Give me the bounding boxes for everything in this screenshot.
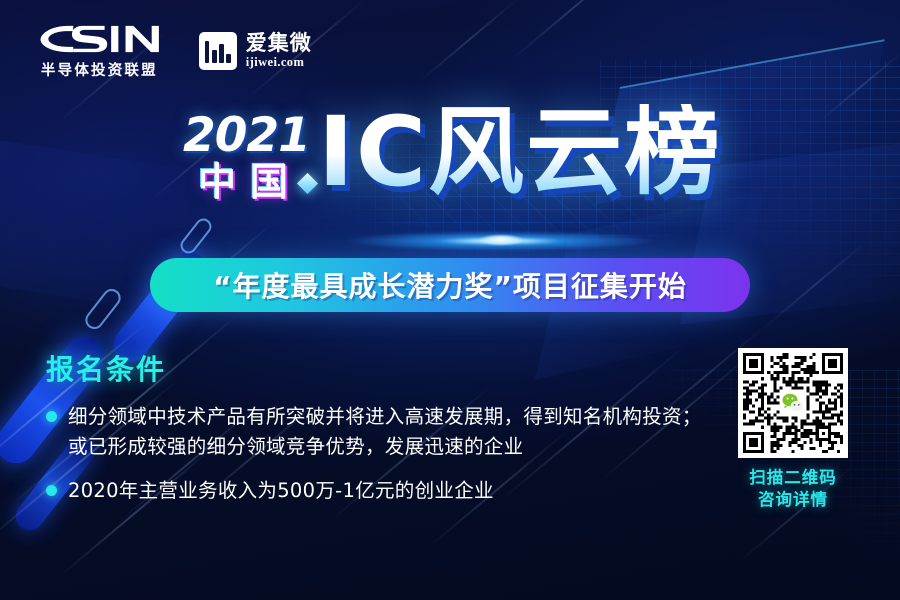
csia-subtitle: 半导体投资联盟 <box>41 59 158 80</box>
list-item: 细分领域中技术产品有所突破并将进入高速发展期，得到知名机构投资；或已形成较强的细… <box>46 402 706 462</box>
bullet-dot-icon <box>46 485 57 496</box>
ijiwei-name-cn: 爱集微 <box>246 32 312 54</box>
csia-wordmark-icon <box>34 22 165 56</box>
condition-text: 细分领域中技术产品有所突破并将进入高速发展期，得到知名机构投资；或已形成较强的细… <box>68 402 706 462</box>
title-year-block: 2021 中 国 <box>183 114 303 201</box>
qr-section: 扫描二维码 咨询详情 <box>733 348 853 512</box>
title-year: 2021 <box>183 114 303 159</box>
title-main-text: IC风云榜 <box>318 104 722 200</box>
cylinder-ring <box>82 285 125 332</box>
title-country-char-2: 国 <box>250 163 288 201</box>
promo-banner: 半导体投资联盟 爱集微 ijiwei.com 2021 中 国 IC风云榜 <box>0 0 900 600</box>
ijiwei-domain: ijiwei.com <box>246 55 312 70</box>
qr-caption-line-2: 咨询详情 <box>733 489 853 511</box>
wechat-glyph <box>781 391 805 415</box>
logo-bar: 半导体投资联盟 爱集微 ijiwei.com <box>34 22 312 80</box>
ijiwei-text: 爱集微 ijiwei.com <box>246 32 312 69</box>
ijiwei-bars-icon <box>199 32 237 70</box>
conditions-heading: 报名条件 <box>46 348 706 388</box>
title-country-char-1: 中 <box>198 163 236 201</box>
main-title: 2021 中 国 IC风云榜 <box>0 104 900 234</box>
wechat-icon <box>780 390 806 416</box>
conditions-list: 细分领域中技术产品有所突破并将进入高速发展期，得到知名机构投资；或已形成较强的细… <box>46 402 706 507</box>
title-country: 中 国 <box>183 163 303 201</box>
light-streak <box>759 240 868 332</box>
condition-text: 2020年主营业务收入为500万-1亿元的创业企业 <box>68 476 494 506</box>
list-item: 2020年主营业务收入为500万-1亿元的创业企业 <box>46 476 706 506</box>
conditions-section: 报名条件 细分领域中技术产品有所突破并将进入高速发展期，得到知名机构投资；或已形… <box>46 348 706 521</box>
qr-caption: 扫描二维码 咨询详情 <box>733 467 853 512</box>
bullet-dot-icon <box>46 411 57 422</box>
qr-code[interactable] <box>738 348 848 458</box>
qr-caption-line-1: 扫描二维码 <box>733 467 853 489</box>
lens-flare-core <box>470 232 532 248</box>
light-streak <box>419 0 520 82</box>
announcement-text: “年度最具成长潜力奖”项目征集开始 <box>213 265 687 305</box>
logo-csia: 半导体投资联盟 <box>34 22 165 80</box>
logo-ijiwei[interactable]: 爱集微 ijiwei.com <box>199 32 312 70</box>
announcement-pill[interactable]: “年度最具成长潜力奖”项目征集开始 <box>150 258 750 312</box>
light-streak <box>509 0 641 62</box>
